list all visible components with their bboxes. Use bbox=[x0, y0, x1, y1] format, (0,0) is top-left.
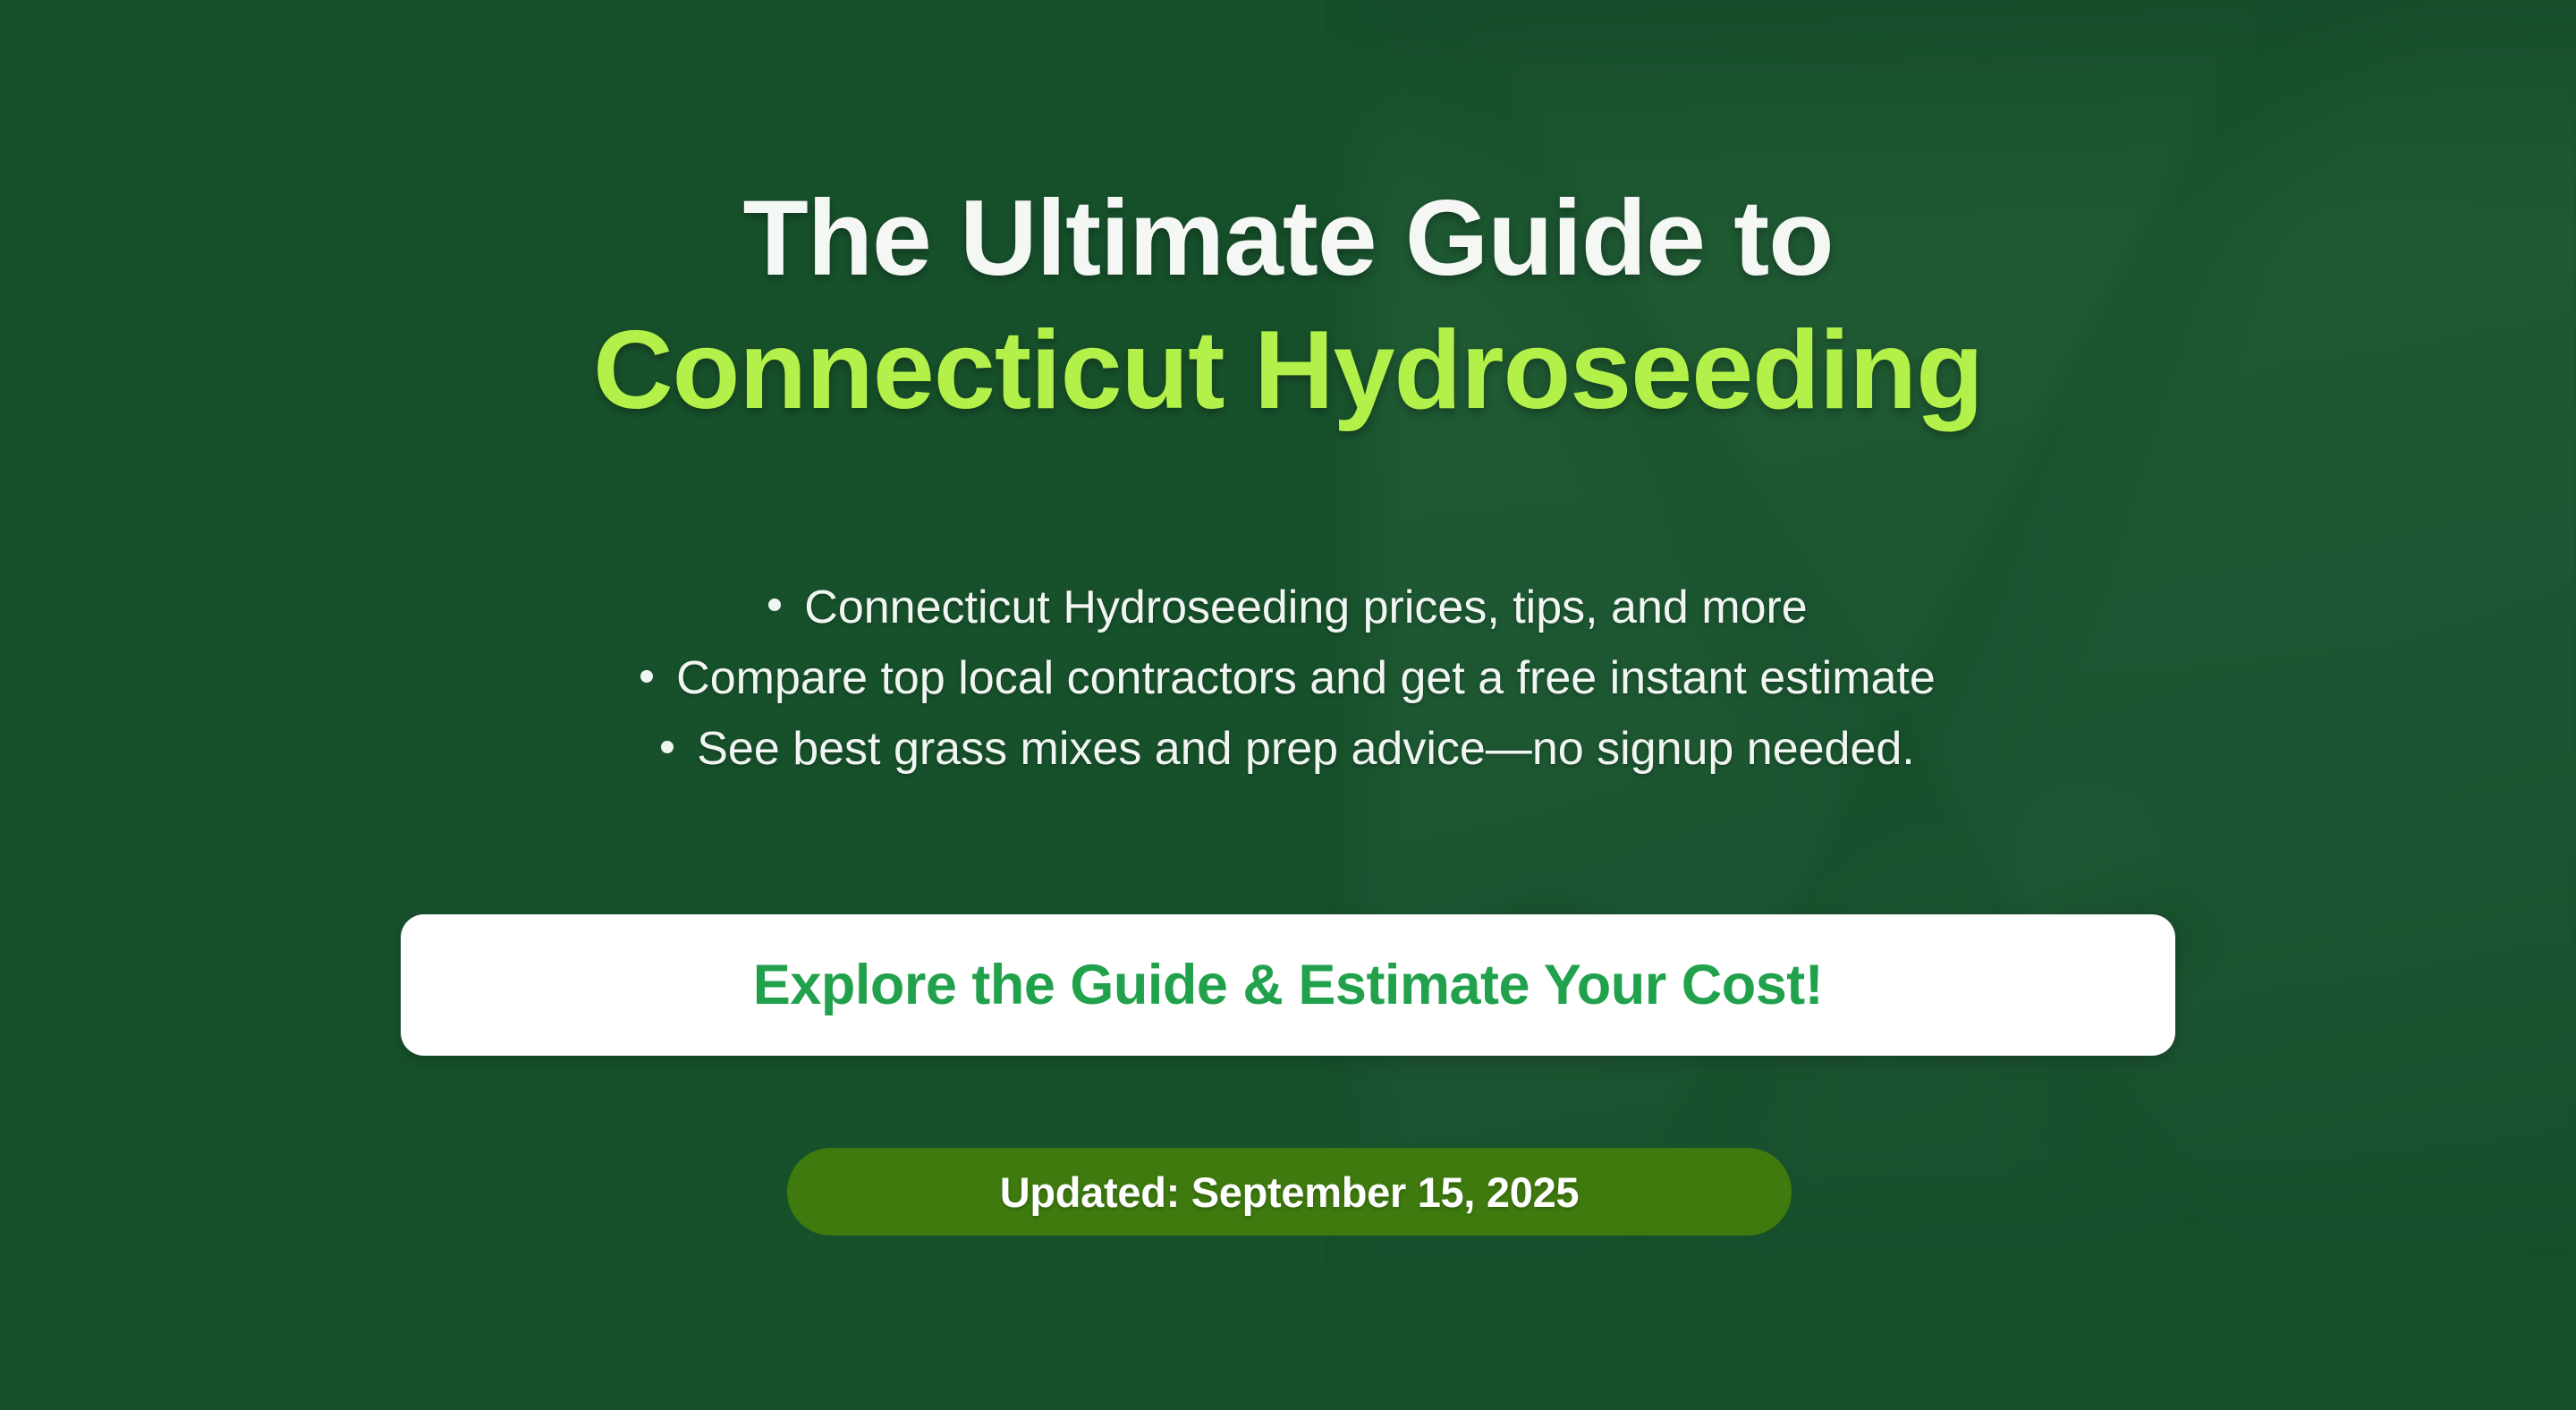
list-item-label: Connecticut Hydroseeding prices, tips, a… bbox=[804, 582, 1807, 633]
bullet-dot-icon bbox=[661, 741, 674, 753]
list-item: Compare top local contractors and get a … bbox=[0, 652, 2576, 704]
benefit-list: Connecticut Hydroseeding prices, tips, a… bbox=[0, 582, 2576, 794]
hero-banner: The Ultimate Guide to Connecticut Hydros… bbox=[0, 0, 2576, 1410]
last-updated-badge: Updated: September 15, 2025 bbox=[787, 1148, 1792, 1236]
bullet-dot-icon bbox=[640, 670, 653, 683]
list-item: Connecticut Hydroseeding prices, tips, a… bbox=[0, 582, 2576, 633]
headline-line-accent: Connecticut Hydroseeding bbox=[0, 315, 2576, 426]
list-item-label: See best grass mixes and prep advice—no … bbox=[697, 723, 1915, 775]
bullet-dot-icon bbox=[768, 599, 781, 611]
page-title: The Ultimate Guide to Connecticut Hydros… bbox=[0, 184, 2576, 426]
headline-line-primary: The Ultimate Guide to bbox=[0, 184, 2576, 292]
explore-guide-cta-button[interactable]: Explore the Guide & Estimate Your Cost! bbox=[401, 914, 2175, 1056]
list-item: See best grass mixes and prep advice—no … bbox=[0, 723, 2576, 775]
list-item-label: Compare top local contractors and get a … bbox=[676, 652, 1936, 704]
banner-content: The Ultimate Guide to Connecticut Hydros… bbox=[0, 0, 2576, 1410]
